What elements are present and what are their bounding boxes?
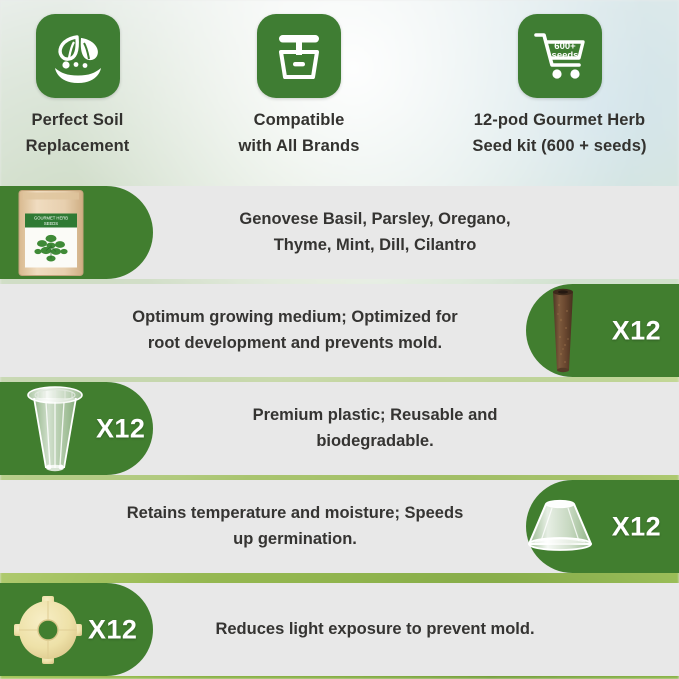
leaves-soil-icon [36, 14, 120, 98]
planter-compatible-icon [257, 14, 341, 98]
feature-caption: 12-pod Gourmet Herb Seed kit (600 + seed… [440, 108, 679, 159]
row-quantity-badge: X12 [96, 413, 145, 444]
feature-row-plastic-basket: X12 Premium plastic; Reusable and biodeg… [0, 382, 679, 475]
feature-caption: Perfect Soil Replacement [0, 108, 155, 159]
light-shield-disc-image [12, 594, 84, 666]
grow-sponge-plug-image [539, 287, 587, 375]
row-description: Retains temperature and moisture; Speeds… [80, 480, 510, 573]
row-quantity-badge: X12 [88, 614, 137, 645]
row-description: Optimum growing medium; Optimized for ro… [80, 284, 510, 377]
packet-label-line2: SEEDS [44, 221, 58, 226]
row-description: Premium plastic; Reusable and biodegrada… [160, 382, 590, 475]
feature-perfect-soil: Perfect Soil Replacement [0, 14, 155, 159]
seed-packet-image: GOURMET HERB SEEDS [16, 188, 86, 277]
plastic-grow-basket-image [24, 384, 86, 474]
feature-seed-kit: 600+ seeds 12-pod Gourmet Herb Seed kit … [440, 14, 679, 159]
humidity-dome-image [521, 496, 599, 558]
row-description: Reduces light exposure to prevent mold. [160, 583, 590, 676]
row-quantity-badge: X12 [612, 315, 661, 346]
feature-row-growing-medium: X12 Optimum growing medium; Optimized fo… [0, 284, 679, 377]
feature-caption: Compatible with All Brands [216, 108, 382, 159]
cart-badge-line2: seeds [551, 50, 578, 61]
header-features: Perfect Soil Replacement Compatible with… [0, 0, 679, 183]
row-quantity-badge: X12 [612, 511, 661, 542]
feature-compatible: Compatible with All Brands [216, 14, 382, 159]
feature-row-humidity-dome: X12 Retains temperature and moisture; Sp… [0, 480, 679, 573]
feature-row-seeds: GOURMET HERB SEEDS Genovese Basil, Parsl… [0, 186, 679, 279]
feature-row-light-shield: X12 Reduces light exposure to prevent mo… [0, 583, 679, 676]
seed-cart-icon: 600+ seeds [518, 14, 602, 98]
row-description: Genovese Basil, Parsley, Oregano, Thyme,… [160, 186, 590, 279]
packet-label-line1: GOURMET HERB [34, 215, 68, 220]
